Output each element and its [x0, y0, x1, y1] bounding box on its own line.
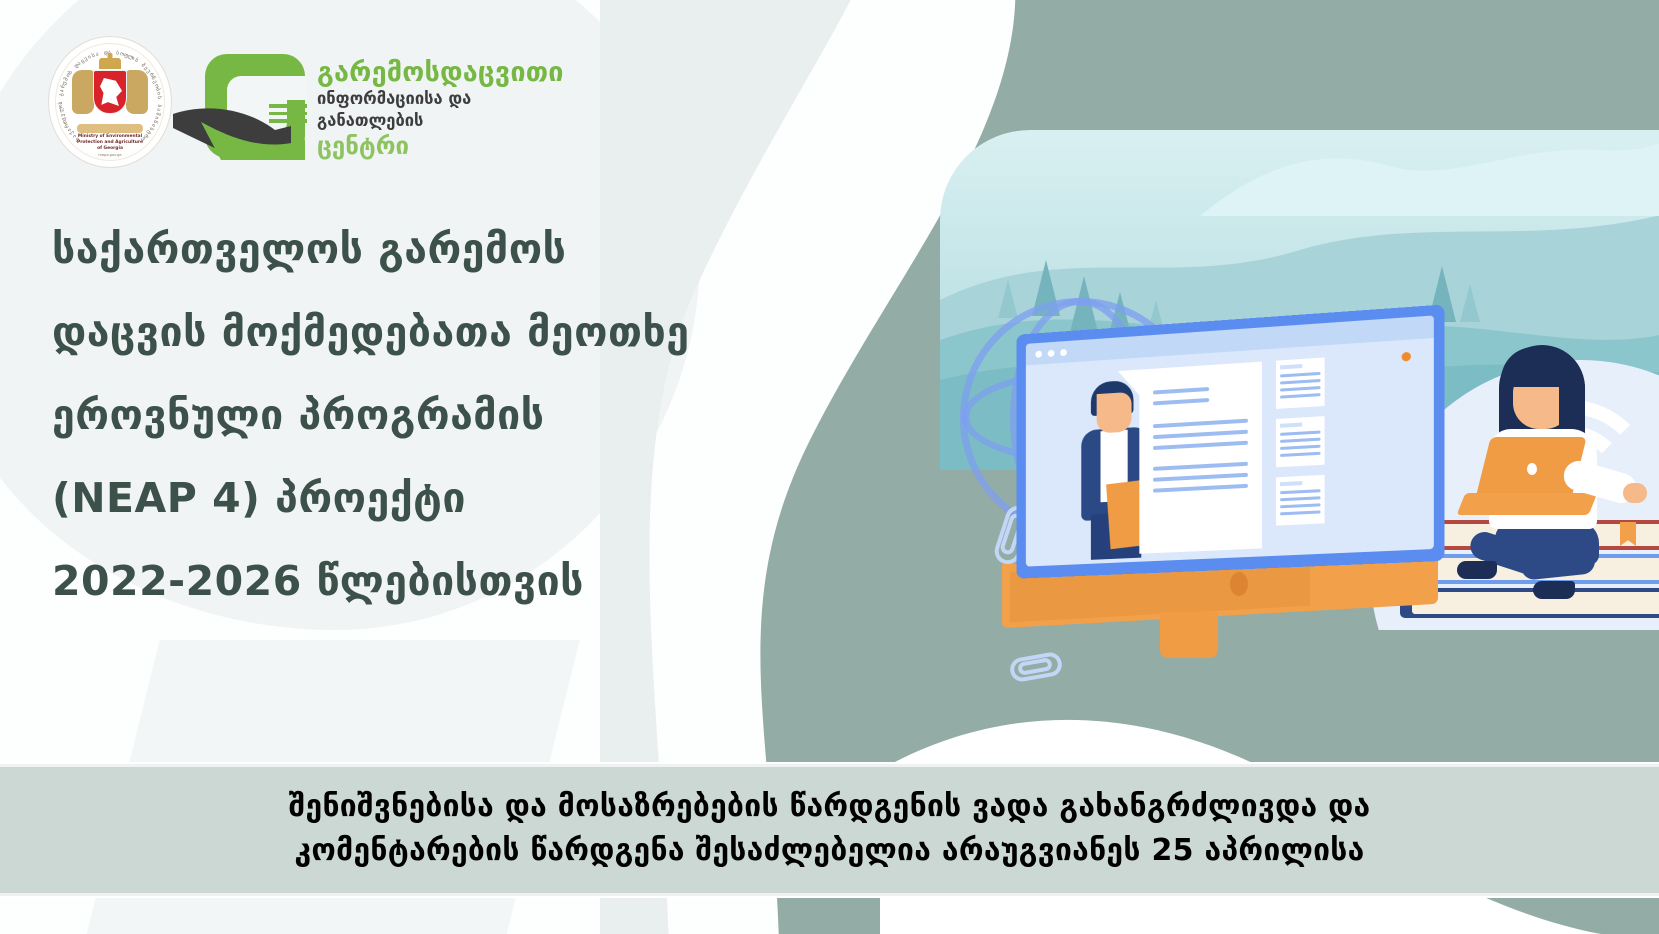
- eiec-line-3: ცენტრი: [317, 132, 557, 160]
- document-thumbnail: [1276, 475, 1325, 526]
- ministry-seal: საქართველოს გარემოს დაცვისა და სოფლის მე…: [48, 36, 172, 168]
- pine-tree-icon: [998, 280, 1018, 318]
- desktop-monitor: [1010, 320, 1450, 650]
- eiec-line-2: ინფორმაციისა და განათლების: [317, 88, 557, 132]
- woman-with-laptop: [1455, 345, 1655, 605]
- seal-ribbon: [77, 124, 143, 133]
- monitor-foot: [1160, 612, 1218, 658]
- bottom-notice-bar: შენიშვნებისა და მოსაზრებების წარდგენის ვ…: [0, 767, 1659, 893]
- page-title: საქართველოს გარემოს დაცვის მოქმედებათა მ…: [52, 208, 772, 623]
- pine-tree-icon: [1460, 284, 1480, 322]
- title-line-5: 2022-2026 წლებისთვის: [52, 540, 772, 623]
- laptop-base: [1457, 493, 1598, 515]
- eiec-logo: გარემოსდაცვითი ინფორმაციისა და განათლები…: [205, 52, 555, 162]
- browser-window: [1026, 315, 1434, 566]
- notice-line-2: კომენტარების წარდგენა შესაძლებელია არაუგ…: [0, 829, 1659, 873]
- title-line-4: (NEAP 4) პროექტი: [52, 457, 772, 540]
- divider-bottom-thin: [0, 896, 1659, 898]
- monitor-frame: [1016, 304, 1444, 578]
- header: საქართველოს გარემოს დაცვისა და სოფლის მე…: [0, 0, 1659, 190]
- seal-url: mepa.gov.ge: [48, 152, 172, 158]
- title-line-2: დაცვის მოქმედებათა მეოთხე: [52, 291, 772, 374]
- coat-of-arms-icon: [72, 58, 148, 124]
- browser-titlebar: [1026, 315, 1434, 365]
- promo-banner: საქართველოს გარემოს დაცვისა და სოფლის მე…: [0, 0, 1659, 934]
- title-line-1: საქართველოს გარემოს: [52, 208, 772, 291]
- eiec-logo-text: გარემოსდაცვითი ინფორმაციისა და განათლები…: [317, 58, 557, 160]
- document-thumbnail: [1276, 416, 1325, 467]
- document-thumbnail: [1276, 357, 1325, 408]
- title-line-3: ეროვნული პროგრამის: [52, 374, 772, 457]
- notification-dot: [1402, 352, 1411, 362]
- notice-line-1: შენიშვნებისა და მოსაზრებების წარდგენის ვ…: [0, 785, 1659, 829]
- monitor-knob: [1230, 572, 1248, 596]
- seal-english-text: Ministry of Environmental Protection and…: [48, 134, 172, 158]
- bottom-notice: შენიშვნებისა და მოსაზრებების წარდგენის ვ…: [0, 762, 1659, 898]
- eiec-line-1: გარემოსდაცვითი: [317, 58, 557, 88]
- document-page: [1139, 362, 1262, 554]
- eiec-logo-mark: [205, 54, 305, 158]
